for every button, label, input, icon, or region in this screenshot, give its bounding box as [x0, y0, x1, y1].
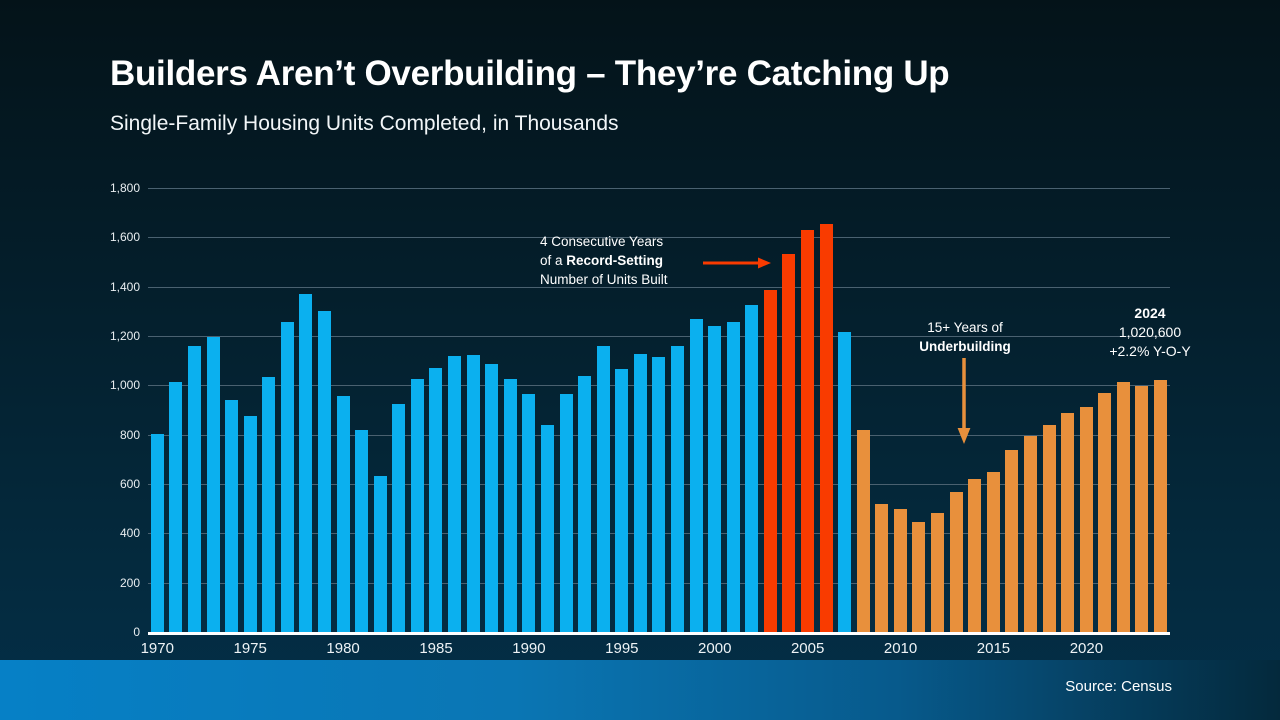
bar-2005[interactable] [801, 230, 814, 632]
bar-slot [464, 188, 483, 632]
bar-slot [1003, 188, 1022, 632]
bar-2009[interactable] [875, 504, 888, 632]
y-axis-tick-label: 600 [80, 477, 140, 491]
axis-baseline [148, 632, 1170, 635]
annotation-under-line2-bold: Underbuilding [919, 339, 1011, 354]
y-axis-tick-label: 200 [80, 576, 140, 590]
annotation-latest-year: 2024 1,020,600 +2.2% Y-O-Y [1060, 304, 1240, 361]
y-axis-tick-label: 0 [80, 625, 140, 639]
bar-slot [1021, 188, 1040, 632]
bar-2020[interactable] [1080, 407, 1093, 632]
bar-slot [297, 188, 316, 632]
bar-slot [408, 188, 427, 632]
bar-2017[interactable] [1024, 436, 1037, 632]
bar-slot [761, 188, 780, 632]
page-subtitle: Single-Family Housing Units Completed, i… [110, 112, 619, 136]
bar-2012[interactable] [931, 513, 944, 632]
annotation-record-line2-bold: Record-Setting [566, 253, 663, 268]
bar-1991[interactable] [541, 425, 554, 632]
bar-1974[interactable] [225, 400, 238, 632]
bar-1984[interactable] [411, 379, 424, 632]
bar-1983[interactable] [392, 404, 405, 632]
bar-slot [910, 188, 929, 632]
down-arrow-icon [957, 358, 971, 444]
bar-1992[interactable] [560, 394, 573, 632]
x-axis-tick-1995: 1995 [605, 640, 638, 657]
bar-2006[interactable] [820, 224, 833, 632]
bar-2013[interactable] [950, 492, 963, 632]
bar-1976[interactable] [262, 377, 275, 632]
bar-slot [1058, 188, 1077, 632]
bar-1985[interactable] [429, 368, 442, 632]
bar-slot [1151, 188, 1170, 632]
bar-slot [445, 188, 464, 632]
bar-1987[interactable] [467, 355, 480, 632]
bar-slot [185, 188, 204, 632]
bar-2023[interactable] [1135, 386, 1148, 632]
y-axis-tick-label: 800 [80, 428, 140, 442]
right-arrow-icon [703, 257, 771, 269]
latest-year-change: +2.2% Y-O-Y [1060, 342, 1240, 361]
bar-2003[interactable] [764, 290, 777, 632]
bar-1989[interactable] [504, 379, 517, 632]
bar-slot [278, 188, 297, 632]
y-axis-tick-label: 1,200 [80, 329, 140, 343]
bar-slot [668, 188, 687, 632]
x-axis-tick-2000: 2000 [698, 640, 731, 657]
bar-1973[interactable] [207, 337, 220, 632]
bar-slot [891, 188, 910, 632]
bar-slot [222, 188, 241, 632]
bar-1990[interactable] [522, 394, 535, 632]
bar-slot [835, 188, 854, 632]
page-title: Builders Aren’t Overbuilding – They’re C… [110, 54, 949, 94]
bar-slot [204, 188, 223, 632]
bar-slot [241, 188, 260, 632]
bar-slot [705, 188, 724, 632]
bar-2004[interactable] [782, 254, 795, 632]
bar-2021[interactable] [1098, 393, 1111, 632]
y-axis-tick-label: 1,600 [80, 230, 140, 244]
bar-slot [817, 188, 836, 632]
bar-1978[interactable] [299, 294, 312, 632]
bar-slot [1040, 188, 1059, 632]
bar-1999[interactable] [690, 319, 703, 632]
bar-2008[interactable] [857, 430, 870, 632]
latest-year-value: 1,020,600 [1060, 323, 1240, 342]
bar-slot [259, 188, 278, 632]
x-axis-tick-2020: 2020 [1070, 640, 1103, 657]
bar-slot [482, 188, 501, 632]
bar-slot [873, 188, 892, 632]
bar-slot [501, 188, 520, 632]
bar-1979[interactable] [318, 311, 331, 632]
bar-1972[interactable] [188, 346, 201, 632]
bar-1993[interactable] [578, 376, 591, 632]
latest-year-label: 2024 [1060, 304, 1240, 323]
bar-slot [371, 188, 390, 632]
bar-1980[interactable] [337, 396, 350, 632]
y-axis-tick-label: 1,000 [80, 378, 140, 392]
x-axis-tick-2010: 2010 [884, 640, 917, 657]
x-axis-tick-1980: 1980 [326, 640, 359, 657]
bar-slot [687, 188, 706, 632]
bar-1975[interactable] [244, 416, 257, 632]
x-axis-tick-1990: 1990 [512, 640, 545, 657]
bar-2001[interactable] [727, 322, 740, 632]
bar-1986[interactable] [448, 356, 461, 632]
bar-2019[interactable] [1061, 413, 1074, 632]
bar-1981[interactable] [355, 430, 368, 632]
bar-1977[interactable] [281, 322, 294, 632]
bar-1997[interactable] [652, 357, 665, 632]
bar-slot [427, 188, 446, 632]
bar-slot [984, 188, 1003, 632]
bar-slot [928, 188, 947, 632]
bar-slot [390, 188, 409, 632]
bar-2007[interactable] [838, 332, 851, 632]
annotation-record-line2-prefix: of a [540, 253, 566, 268]
bar-2016[interactable] [1005, 450, 1018, 632]
bar-1996[interactable] [634, 354, 647, 632]
bar-1970[interactable] [151, 434, 164, 632]
bar-slot [334, 188, 353, 632]
bar-slot [854, 188, 873, 632]
y-axis-tick-label: 400 [80, 526, 140, 540]
bar-2000[interactable] [708, 326, 721, 632]
bar-2018[interactable] [1043, 425, 1056, 632]
y-axis-tick-label: 1,800 [80, 181, 140, 195]
bar-2015[interactable] [987, 472, 1000, 632]
bar-slot [148, 188, 167, 632]
bar-2011[interactable] [912, 522, 925, 632]
annotation-under-line2: Underbuilding [905, 337, 1025, 356]
annotation-under-line1: 15+ Years of [905, 318, 1025, 337]
annotation-record-line3: Number of Units Built [540, 270, 668, 289]
bar-slot [315, 188, 334, 632]
bar-slot [352, 188, 371, 632]
bar-2024[interactable] [1154, 380, 1167, 632]
bar-1988[interactable] [485, 364, 498, 632]
annotation-underbuilding: 15+ Years of Underbuilding [905, 318, 1025, 356]
bar-slot [724, 188, 743, 632]
bar-1971[interactable] [169, 382, 182, 632]
bar-1994[interactable] [597, 346, 610, 632]
source-label: Source: Census [1065, 678, 1172, 695]
slide-root: Builders Aren’t Overbuilding – They’re C… [0, 0, 1280, 720]
bar-slot [1114, 188, 1133, 632]
bar-slot [1095, 188, 1114, 632]
bar-slot [780, 188, 799, 632]
bar-2010[interactable] [894, 509, 907, 632]
annotation-record-line1: 4 Consecutive Years [540, 232, 668, 251]
bar-1998[interactable] [671, 346, 684, 632]
annotation-record-line2: of a Record-Setting [540, 251, 668, 270]
x-axis-tick-2005: 2005 [791, 640, 824, 657]
bar-slot [1077, 188, 1096, 632]
y-axis-tick-label: 1,400 [80, 280, 140, 294]
bar-slot [798, 188, 817, 632]
x-axis-tick-1970: 1970 [141, 640, 174, 657]
x-axis-tick-1975: 1975 [234, 640, 267, 657]
bar-1995[interactable] [615, 369, 628, 632]
annotation-record-setting: 4 Consecutive Years of a Record-Setting … [540, 232, 668, 289]
footer-bar: Source: Census [0, 660, 1280, 720]
bar-2014[interactable] [968, 479, 981, 632]
bar-slot [520, 188, 539, 632]
bar-2022[interactable] [1117, 382, 1130, 632]
bar-slot [743, 188, 762, 632]
bar-slot [1133, 188, 1152, 632]
x-axis-tick-2015: 2015 [977, 640, 1010, 657]
bar-2002[interactable] [745, 305, 758, 632]
bar-1982[interactable] [374, 476, 387, 632]
x-axis-tick-1985: 1985 [419, 640, 452, 657]
bar-slot [167, 188, 186, 632]
